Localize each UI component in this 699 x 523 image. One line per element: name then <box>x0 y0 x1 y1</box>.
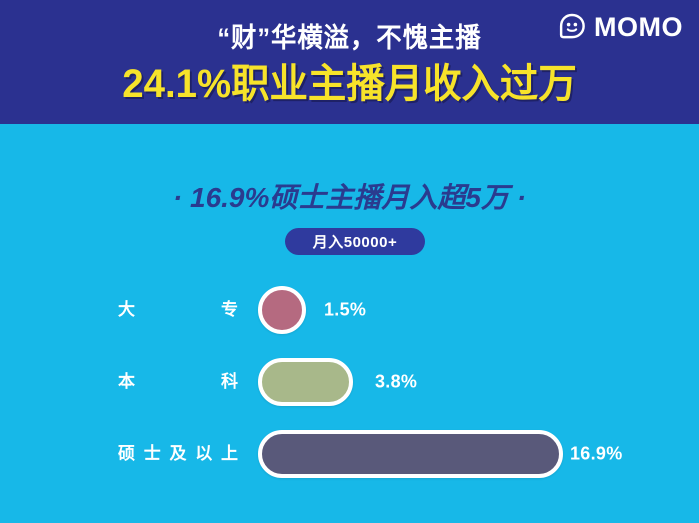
bar-benke <box>258 358 353 406</box>
chart-row: 大专 1.5% <box>0 274 699 346</box>
section-heading: · 16.9%硕士主播月入超5万 · <box>0 176 699 216</box>
bar-value-dazhuan: 1.5% <box>324 300 366 321</box>
bar-value-shuoshi: 16.9% <box>570 444 623 465</box>
momo-chat-face-icon <box>557 12 587 42</box>
infographic-poster: “财”华横溢，不愧主播 24.1%职业主播月收入过万 MOMO · 16.9%硕… <box>0 0 699 523</box>
brand-name: MOMO <box>594 12 683 42</box>
bar-shuoshi <box>258 430 563 478</box>
bar-track-shuoshi <box>258 430 563 478</box>
income-badge: 月入50000+ <box>285 228 425 255</box>
bar-label-dazhuan: 大专 <box>118 300 238 320</box>
header-band: “财”华横溢，不愧主播 24.1%职业主播月收入过万 MOMO <box>0 0 699 124</box>
bar-track-dazhuan <box>258 286 306 334</box>
bar-track-benke <box>258 358 353 406</box>
chart-row: 硕士及以上 16.9% <box>0 418 699 490</box>
bar-label-shuoshi: 硕士及以上 <box>118 444 238 464</box>
brand-logo: MOMO <box>557 10 683 44</box>
chart-body: · 16.9%硕士主播月入超5万 · 月入50000+ 大专 1.5% 本科 3… <box>0 124 699 523</box>
bar-label-benke: 本科 <box>118 372 238 392</box>
header-title: 24.1%职业主播月收入过万 <box>14 60 685 108</box>
bar-chart: 大专 1.5% 本科 3.8% 硕士及以上 16.9% <box>0 274 699 490</box>
chart-row: 本科 3.8% <box>0 346 699 418</box>
bar-value-benke: 3.8% <box>375 372 417 393</box>
bar-dazhuan <box>258 286 306 334</box>
